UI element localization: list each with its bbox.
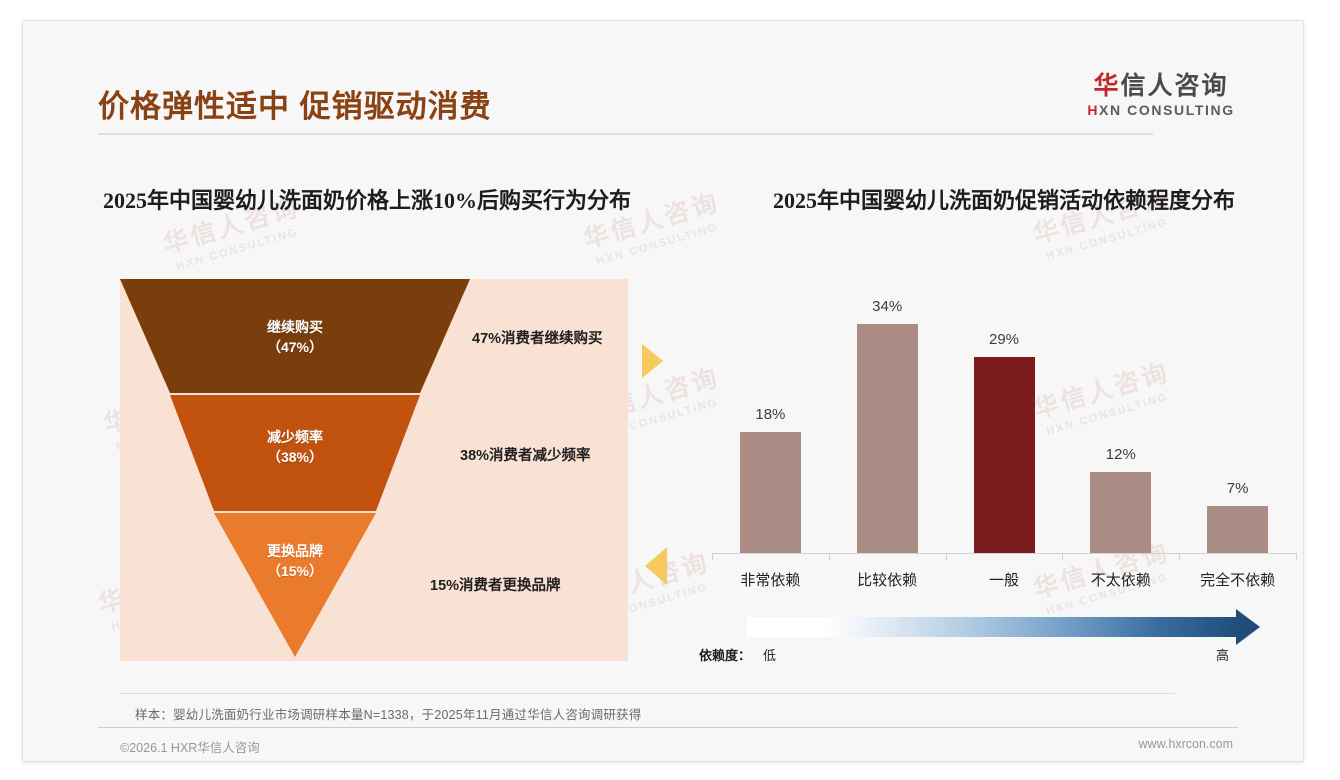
tick-3	[1062, 553, 1063, 560]
bar-value-label-1: 34%	[847, 298, 927, 315]
category-label-1: 比较依赖	[827, 569, 947, 590]
funnel-segment-switch	[214, 513, 376, 657]
tick-2	[946, 553, 947, 560]
left-chart-title: 2025年中国婴幼儿洗面奶价格上涨10%后购买行为分布	[47, 186, 687, 216]
note-divider	[120, 693, 1175, 694]
dependency-gradient-legend: 依赖度： 低 高	[699, 613, 1304, 669]
arrow-right-icon	[642, 344, 663, 378]
website-text: www.hxrcon.com	[1139, 737, 1233, 751]
category-label-3: 不太依赖	[1061, 569, 1181, 590]
funnel-annotation-reduce: 38%消费者减少频率	[460, 444, 591, 465]
gradient-bar	[747, 617, 1237, 637]
logo-en-accent: H	[1087, 102, 1099, 118]
logo-chinese: 华信人咨询	[1071, 73, 1251, 99]
logo-en-rest: XN CONSULTING	[1099, 102, 1235, 118]
logo-cn-accent: 华	[1093, 72, 1120, 100]
bar-chart: 非常依赖比较依赖一般不太依赖完全不依赖 18%34%29%12%7%	[699, 283, 1304, 583]
x-axis-line	[712, 553, 1296, 554]
bar-value-label-4: 7%	[1198, 480, 1278, 497]
bar-3	[1090, 472, 1151, 553]
bar-4	[1207, 506, 1268, 553]
tick-1	[829, 553, 830, 560]
tick-end	[1296, 553, 1297, 560]
watermark-en: HXN CONSULTING	[595, 219, 727, 267]
category-label-0: 非常依赖	[710, 569, 830, 590]
funnel-segment-reduce	[170, 395, 420, 511]
watermark-en: HXN CONSULTING	[175, 224, 307, 272]
copyright-text: ©2026.1 HXR华信人咨询	[120, 737, 260, 756]
funnel-annotation-switch: 15%消费者更换品牌	[430, 574, 561, 595]
bar-value-label-2: 29%	[964, 331, 1044, 348]
tick-4	[1179, 553, 1180, 560]
brand-logo: 华信人咨询 HXN CONSULTING	[1071, 73, 1251, 118]
right-chart-title: 2025年中国婴幼儿洗面奶促销活动依赖程度分布	[699, 186, 1304, 216]
sample-note: 样本：婴幼儿洗面奶行业市场调研样本量N=1338，于2025年11月通过华信人咨…	[135, 704, 641, 723]
logo-english: HXN CONSULTING	[1071, 102, 1251, 118]
funnel-segment-continue	[120, 279, 470, 393]
category-label-2: 一般	[944, 569, 1064, 590]
bar-value-label-0: 18%	[730, 406, 810, 423]
funnel-chart: 继续购买（47%） 减少频率（38%） 更换品牌（15%） 47%消费者继续购买…	[120, 279, 628, 661]
legend-high-label: 高	[1216, 645, 1229, 664]
legend-low-label: 低	[763, 645, 776, 664]
watermark-en: HXN CONSULTING	[1045, 214, 1177, 262]
arrow-left-icon	[645, 547, 667, 585]
title-divider	[98, 133, 1153, 135]
bar-value-label-3: 12%	[1081, 446, 1161, 463]
bar-2	[974, 357, 1035, 553]
gradient-arrow-icon	[1236, 609, 1260, 645]
bar-0	[740, 432, 801, 554]
funnel-annotation-continue: 47%消费者继续购买	[472, 327, 603, 348]
logo-cn-rest: 信人咨询	[1121, 72, 1229, 100]
page-title: 价格弹性适中 促销驱动消费	[98, 81, 492, 126]
legend-title: 依赖度：	[699, 645, 751, 664]
category-label-4: 完全不依赖	[1178, 569, 1298, 590]
bar-1	[857, 324, 918, 554]
tick-0	[712, 553, 713, 560]
slide-canvas: 华信人咨询 HXN CONSULTING 华信人咨询 HXN CONSULTIN…	[22, 20, 1304, 762]
footer-divider	[98, 727, 1238, 728]
